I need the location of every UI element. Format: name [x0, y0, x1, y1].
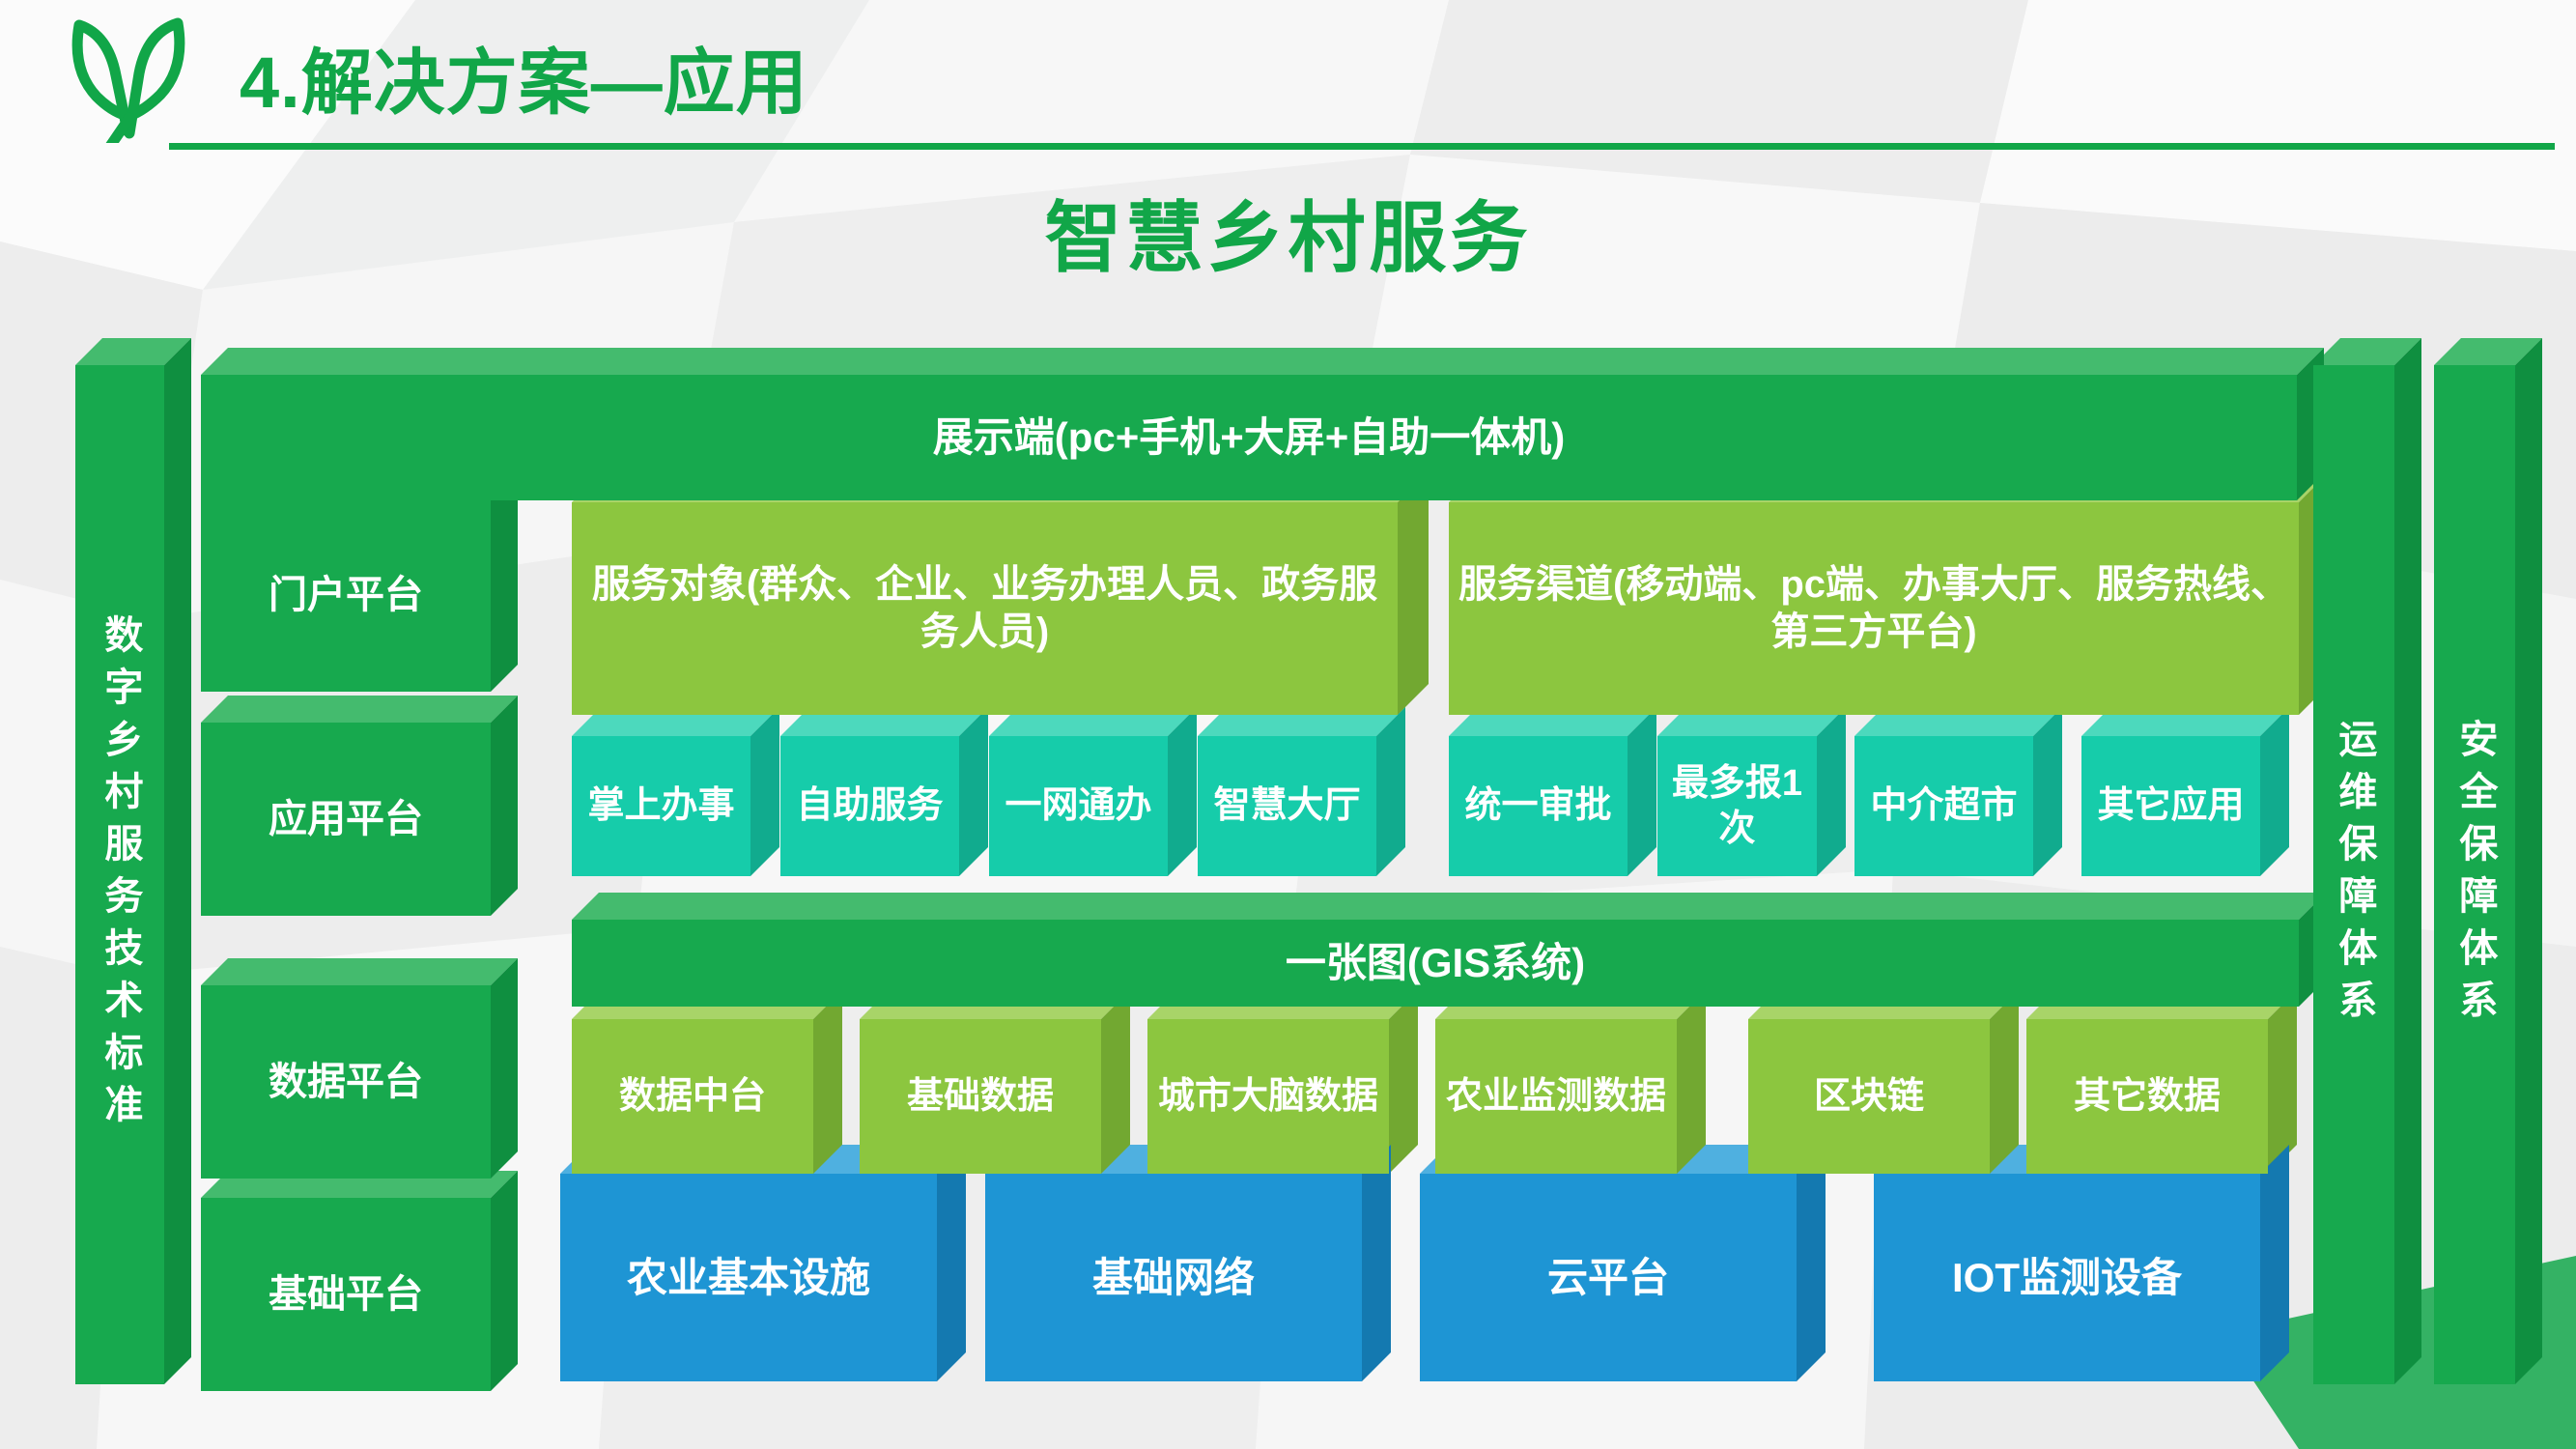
application-box-3[interactable]: 一网通办 [989, 736, 1168, 876]
application-box-7-label: 中介超市 [1854, 736, 2033, 876]
data-box-4-label: 农业监测数据 [1435, 1019, 1677, 1174]
pillar-left-standards[interactable]: 数字乡村服务技术标准 [75, 365, 164, 1384]
infrastructure-box-2-label: 基础网络 [985, 1174, 1362, 1381]
data-box-6-label: 其它数据 [2026, 1019, 2268, 1174]
application-box-3-label: 一网通办 [989, 736, 1168, 876]
application-box-3-side-face [1168, 707, 1197, 876]
layer-label-1-side-face [491, 471, 518, 692]
pillar-right-security[interactable]: 安全保障体系 [2434, 365, 2515, 1384]
infrastructure-box-2[interactable]: 基础网络 [985, 1174, 1362, 1381]
data-box-2-side-face [1101, 990, 1130, 1174]
portal-box-service-channel-label: 服务渠道(移动端、pc端、办事大厅、服务热线、第三方平台) [1449, 502, 2299, 715]
infrastructure-box-4-side-face [2260, 1145, 2289, 1381]
pillar-right-operations-side-face [2394, 338, 2421, 1384]
pillar-left-standards-label: 数字乡村服务技术标准 [75, 365, 164, 1384]
slide-header: 4.解决方案—应用 [0, 0, 2576, 164]
data-box-3-side-face [1389, 990, 1418, 1174]
data-box-2[interactable]: 基础数据 [860, 1019, 1101, 1174]
data-box-5-label: 区块链 [1748, 1019, 1990, 1174]
gis-layer-bar[interactable]: 一张图(GIS系统) [572, 920, 2299, 1007]
portal-box-service-audience-label: 服务对象(群众、企业、业务办理人员、政务服务人员) [572, 502, 1398, 715]
application-box-7[interactable]: 中介超市 [1854, 736, 2033, 876]
layer-label-2-top-face [201, 696, 518, 723]
application-box-7-side-face [2033, 707, 2062, 876]
application-box-5[interactable]: 统一审批 [1449, 736, 1628, 876]
portal-box-service-audience[interactable]: 服务对象(群众、企业、业务办理人员、政务服务人员) [572, 502, 1398, 715]
data-box-3[interactable]: 城市大脑数据 [1147, 1019, 1389, 1174]
layer-label-3-side-face [491, 958, 518, 1179]
display-layer-bar-label: 展示端(pc+手机+大屏+自助一体机) [201, 375, 2297, 500]
header-divider [169, 143, 2555, 150]
data-box-5[interactable]: 区块链 [1748, 1019, 1990, 1174]
application-box-1-side-face [750, 707, 779, 876]
data-box-3-label: 城市大脑数据 [1147, 1019, 1389, 1174]
display-layer-bar-top-face [201, 348, 2324, 375]
data-box-1-side-face [813, 990, 842, 1174]
application-box-1-label: 掌上办事 [572, 736, 750, 876]
layer-label-2-side-face [491, 696, 518, 916]
application-box-5-label: 统一审批 [1449, 736, 1628, 876]
layer-label-3[interactable]: 数据平台 [201, 985, 491, 1179]
application-box-1[interactable]: 掌上办事 [572, 736, 750, 876]
layer-label-4-side-face [491, 1171, 518, 1391]
application-box-4-label: 智慧大厅 [1198, 736, 1376, 876]
application-box-6-label: 最多报1次 [1657, 736, 1817, 876]
layer-label-1[interactable]: 门户平台 [201, 498, 491, 692]
portal-box-service-audience-side-face [1398, 471, 1429, 715]
pillar-right-operations[interactable]: 运维保障体系 [2313, 365, 2394, 1384]
application-box-6-side-face [1817, 707, 1846, 876]
application-box-4[interactable]: 智慧大厅 [1198, 736, 1376, 876]
layer-label-4-label: 基础平台 [201, 1198, 491, 1391]
application-box-8[interactable]: 其它应用 [2081, 736, 2260, 876]
layer-label-4[interactable]: 基础平台 [201, 1198, 491, 1391]
infrastructure-box-3-side-face [1797, 1145, 1826, 1381]
infrastructure-box-4-label: IOT监测设备 [1874, 1174, 2260, 1381]
data-box-6-side-face [2268, 990, 2297, 1174]
infrastructure-box-1-label: 农业基本设施 [560, 1174, 937, 1381]
application-box-2[interactable]: 自助服务 [780, 736, 959, 876]
display-layer-bar[interactable]: 展示端(pc+手机+大屏+自助一体机) [201, 375, 2297, 500]
data-box-6[interactable]: 其它数据 [2026, 1019, 2268, 1174]
layer-label-2-label: 应用平台 [201, 723, 491, 916]
portal-box-service-channel[interactable]: 服务渠道(移动端、pc端、办事大厅、服务热线、第三方平台) [1449, 502, 2299, 715]
gis-layer-bar-top-face [572, 893, 2326, 920]
page-title: 4.解决方案—应用 [240, 25, 808, 128]
application-box-8-label: 其它应用 [2081, 736, 2260, 876]
data-box-1-label: 数据中台 [572, 1019, 813, 1174]
layer-label-3-top-face [201, 958, 518, 985]
application-box-5-side-face [1628, 707, 1656, 876]
data-box-4[interactable]: 农业监测数据 [1435, 1019, 1677, 1174]
application-box-6[interactable]: 最多报1次 [1657, 736, 1817, 876]
data-box-2-label: 基础数据 [860, 1019, 1101, 1174]
application-box-2-side-face [959, 707, 988, 876]
infrastructure-box-3[interactable]: 云平台 [1420, 1174, 1797, 1381]
diagram-title: 智慧乡村服务 [0, 176, 2576, 288]
layer-label-2[interactable]: 应用平台 [201, 723, 491, 916]
pillar-right-security-side-face [2515, 338, 2542, 1384]
gis-layer-bar-label: 一张图(GIS系统) [572, 920, 2299, 1007]
pillar-left-standards-side-face [164, 338, 191, 1384]
application-box-4-side-face [1376, 707, 1405, 876]
infrastructure-box-2-side-face [1362, 1145, 1391, 1381]
leaf-icon [68, 17, 193, 143]
data-box-5-side-face [1990, 990, 2019, 1174]
application-box-8-side-face [2260, 707, 2289, 876]
application-box-2-label: 自助服务 [780, 736, 959, 876]
infrastructure-box-1-side-face [937, 1145, 966, 1381]
layer-label-3-label: 数据平台 [201, 985, 491, 1179]
pillar-right-security-label: 安全保障体系 [2434, 365, 2515, 1384]
infrastructure-box-1[interactable]: 农业基本设施 [560, 1174, 937, 1381]
data-box-4-side-face [1677, 990, 1706, 1174]
infrastructure-box-3-label: 云平台 [1420, 1174, 1797, 1381]
infrastructure-box-4[interactable]: IOT监测设备 [1874, 1174, 2260, 1381]
layer-label-1-label: 门户平台 [201, 498, 491, 692]
data-box-1[interactable]: 数据中台 [572, 1019, 813, 1174]
pillar-right-operations-label: 运维保障体系 [2313, 365, 2394, 1384]
